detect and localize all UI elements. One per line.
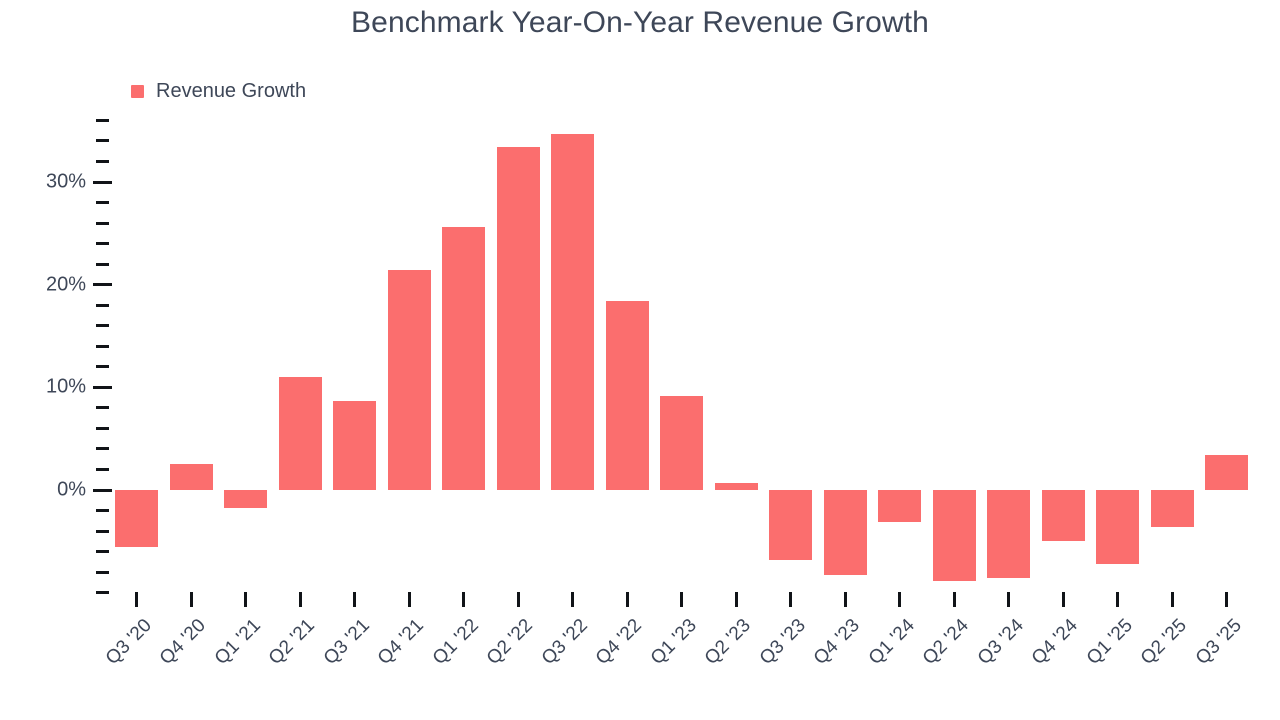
x-axis-tick bbox=[1225, 592, 1228, 607]
y-axis-major-tick bbox=[93, 283, 112, 286]
bar[interactable] bbox=[224, 490, 267, 508]
y-axis-minor-tick bbox=[96, 222, 109, 225]
x-axis-tick bbox=[789, 592, 792, 607]
bar[interactable] bbox=[824, 490, 867, 575]
y-axis-label: 20% bbox=[46, 273, 86, 296]
x-axis-tick bbox=[1171, 592, 1174, 607]
bar[interactable] bbox=[551, 134, 594, 490]
bar[interactable] bbox=[1042, 490, 1085, 541]
x-axis-tick bbox=[299, 592, 302, 607]
y-axis-label: 0% bbox=[57, 479, 86, 502]
y-axis-minor-tick bbox=[96, 119, 109, 122]
x-axis-tick bbox=[735, 592, 738, 607]
y-axis-label: 10% bbox=[46, 376, 86, 399]
x-axis-tick bbox=[898, 592, 901, 607]
bar[interactable] bbox=[1151, 490, 1194, 527]
x-axis-tick bbox=[462, 592, 465, 607]
x-axis-tick bbox=[135, 592, 138, 607]
x-axis-tick bbox=[190, 592, 193, 607]
bar[interactable] bbox=[115, 490, 158, 547]
y-axis-minor-tick bbox=[96, 530, 109, 533]
y-axis-minor-tick bbox=[96, 427, 109, 430]
x-axis-tick bbox=[1007, 592, 1010, 607]
bar[interactable] bbox=[388, 270, 431, 490]
x-axis-tick bbox=[517, 592, 520, 607]
x-axis-tick bbox=[571, 592, 574, 607]
x-axis-tick bbox=[1062, 592, 1065, 607]
y-axis-minor-tick bbox=[96, 468, 109, 471]
x-axis-tick bbox=[1116, 592, 1119, 607]
x-axis-tick bbox=[353, 592, 356, 607]
bar[interactable] bbox=[170, 464, 213, 490]
bar[interactable] bbox=[660, 396, 703, 490]
bar[interactable] bbox=[1096, 490, 1139, 564]
y-axis-minor-tick bbox=[96, 263, 109, 266]
y-axis-major-tick bbox=[93, 386, 112, 389]
bar[interactable] bbox=[769, 490, 812, 560]
bar[interactable] bbox=[987, 490, 1030, 578]
bar[interactable] bbox=[933, 490, 976, 581]
y-axis-minor-tick bbox=[96, 447, 109, 450]
y-axis-minor-tick bbox=[96, 509, 109, 512]
y-axis-minor-tick bbox=[96, 406, 109, 409]
y-axis-major-tick bbox=[93, 489, 112, 492]
y-axis-minor-tick bbox=[96, 201, 109, 204]
x-axis-tick bbox=[408, 592, 411, 607]
y-axis-label: 30% bbox=[46, 171, 86, 194]
plot-area: 0%10%20%30%Q3 '20Q4 '20Q1 '21Q2 '21Q3 '2… bbox=[0, 0, 1280, 720]
y-axis-minor-tick bbox=[96, 304, 109, 307]
x-axis-tick bbox=[953, 592, 956, 607]
x-axis-tick bbox=[680, 592, 683, 607]
y-axis-minor-tick bbox=[96, 571, 109, 574]
y-axis-minor-tick bbox=[96, 324, 109, 327]
bar[interactable] bbox=[497, 147, 540, 490]
bar[interactable] bbox=[1205, 455, 1248, 490]
y-axis-major-tick bbox=[93, 181, 112, 184]
y-axis-minor-tick bbox=[96, 365, 109, 368]
bar[interactable] bbox=[606, 301, 649, 490]
bar[interactable] bbox=[333, 401, 376, 490]
y-axis-minor-tick bbox=[96, 160, 109, 163]
y-axis-minor-tick bbox=[96, 139, 109, 142]
bar[interactable] bbox=[279, 377, 322, 490]
y-axis-minor-tick bbox=[96, 242, 109, 245]
bar[interactable] bbox=[878, 490, 921, 522]
bar[interactable] bbox=[715, 483, 758, 490]
x-axis-tick bbox=[844, 592, 847, 607]
bar[interactable] bbox=[442, 227, 485, 490]
chart-container: Benchmark Year-On-Year Revenue Growth Re… bbox=[0, 0, 1280, 720]
y-axis-minor-tick bbox=[96, 345, 109, 348]
x-axis-tick bbox=[244, 592, 247, 607]
y-axis-minor-tick bbox=[96, 591, 109, 594]
x-axis-tick bbox=[626, 592, 629, 607]
y-axis-minor-tick bbox=[96, 550, 109, 553]
